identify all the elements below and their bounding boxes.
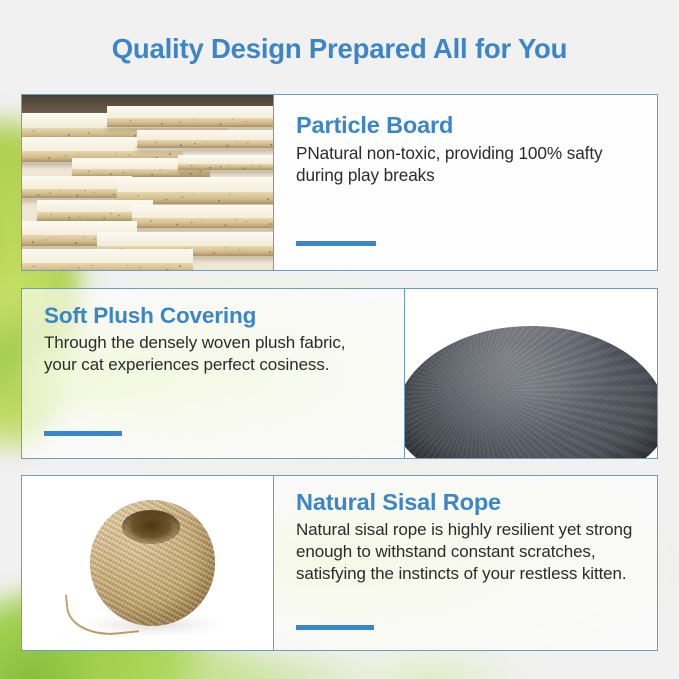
feature-panel-natural-sisal-rope: Natural Sisal Rope Natural sisal rope is…: [21, 475, 658, 651]
feature-panel-particle-board: Particle Board PNatural non-toxic, provi…: [21, 94, 658, 271]
feature-title: Natural Sisal Rope: [296, 489, 635, 515]
particle-board-illustration: [22, 95, 273, 270]
page-title: Quality Design Prepared All for You: [0, 33, 679, 65]
feature-description: PNatural non-toxic, providing 100% safty…: [296, 142, 635, 186]
feature-text-particle-board: Particle Board PNatural non-toxic, provi…: [274, 95, 657, 270]
feature-image-particle-board: [22, 95, 274, 270]
feature-description: Natural sisal rope is highly resilient y…: [296, 519, 635, 584]
accent-bar: [296, 625, 374, 630]
accent-bar: [296, 241, 376, 246]
feature-text-soft-plush-covering: Soft Plush Covering Through the densely …: [22, 289, 404, 458]
feature-text-natural-sisal-rope: Natural Sisal Rope Natural sisal rope is…: [274, 476, 657, 650]
sisal-rope-ball-illustration: [22, 476, 273, 650]
plush-cushion-illustration: [405, 289, 657, 458]
infographic-page: Quality Design Prepared All for You: [0, 0, 679, 679]
feature-panel-soft-plush-covering: Soft Plush Covering Through the densely …: [21, 288, 658, 459]
feature-image-natural-sisal-rope: [22, 476, 274, 650]
feature-image-soft-plush-covering: [404, 289, 657, 458]
feature-description: Through the densely woven plush fabric, …: [44, 332, 374, 376]
feature-title: Soft Plush Covering: [44, 303, 384, 328]
accent-bar: [44, 431, 122, 436]
feature-title: Particle Board: [296, 112, 635, 138]
